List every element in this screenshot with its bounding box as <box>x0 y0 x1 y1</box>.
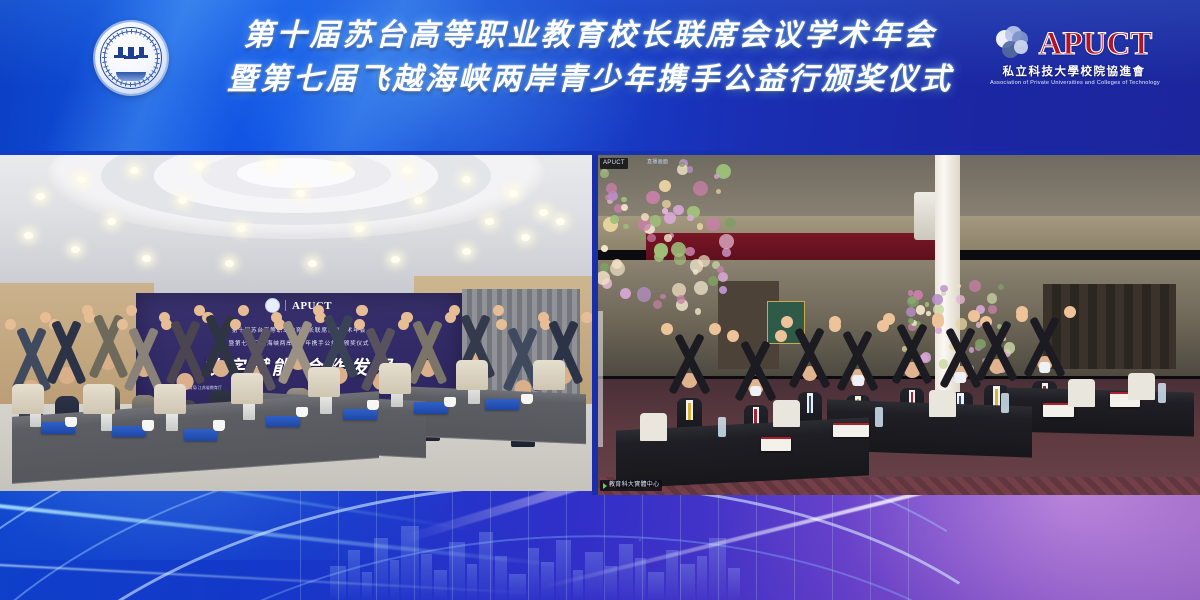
ceiling-light <box>77 176 86 183</box>
flower-blossom <box>718 272 728 282</box>
flower-blossom <box>916 305 926 315</box>
seal-book-shape <box>116 72 146 81</box>
apuct-chinese-name: 私立科技大學校院協進會 <box>990 63 1158 79</box>
ceiling-light <box>462 176 471 183</box>
flower-blossom <box>694 281 708 295</box>
raised-hand <box>5 319 16 330</box>
raised-hand <box>230 319 241 330</box>
raised-hand <box>126 305 137 316</box>
stream-badge-top: APUCT <box>600 158 628 169</box>
raised-hand <box>932 316 944 328</box>
flower-blossom <box>698 255 710 267</box>
flower-blossom <box>935 327 942 334</box>
flower-blossom <box>926 311 931 316</box>
flower-blossom <box>722 248 730 256</box>
flower-blossom <box>621 197 627 203</box>
ceiling-light <box>355 225 364 232</box>
flower-blossom <box>697 223 703 229</box>
ceiling-light <box>509 190 518 197</box>
flower-blossom <box>659 180 671 192</box>
event-banner: 第十届苏台高等职业教育校长联席会议学术年会 暨第七届飞越海峡两岸青少年携手公益行… <box>0 0 1200 155</box>
flower-blossom <box>998 284 1004 290</box>
chair <box>308 367 341 397</box>
seal-bar <box>139 47 144 58</box>
backdrop-apuct-wordmark: APUCT <box>292 300 332 312</box>
raised-hand <box>493 305 504 316</box>
raised-hand <box>496 319 507 330</box>
raised-hand <box>581 312 592 323</box>
desk-name-card <box>414 402 447 413</box>
water-bottle <box>718 417 726 437</box>
ceiling-light <box>391 256 400 263</box>
face-mask <box>750 386 762 397</box>
flower-blossom <box>714 174 719 179</box>
flower-blossom <box>623 224 628 229</box>
ceiling-light <box>462 248 471 255</box>
flower-blossom <box>956 295 965 304</box>
flower-blossom <box>621 204 628 211</box>
flower-blossom <box>987 293 998 304</box>
flower-blossom <box>641 213 649 221</box>
ceiling-light <box>237 225 246 232</box>
ceiling-light <box>71 246 80 253</box>
flower-blossom <box>932 294 943 305</box>
tea-cup <box>444 397 456 407</box>
ceiling-light <box>24 232 33 239</box>
water-bottle <box>1001 393 1009 413</box>
raised-hand <box>354 319 365 330</box>
apuct-logo: APUCT 私立科技大學校院協進會 Association of Private… <box>990 26 1158 86</box>
livestream-stage: 第十届苏台高等职业教育校长联席会议学术年会 暨第七届飞越海峡两岸青少年携手公益行… <box>0 0 1200 600</box>
ceiling-light <box>521 234 530 241</box>
chair <box>533 360 566 390</box>
banquet-chair <box>929 390 956 417</box>
video-panel-left[interactable]: APUCT 第十届苏台高等职业教育校长联席会议学术年会 暨第七届飞越海峡两岸青少… <box>0 155 592 491</box>
flower-blossom <box>685 247 695 257</box>
tea-cup <box>142 420 154 430</box>
tea-cup <box>296 407 308 417</box>
table-name-card <box>761 437 791 451</box>
tea-cup <box>213 420 225 430</box>
apuct-emblem-circle <box>1014 40 1028 54</box>
ceiling-light <box>178 197 187 204</box>
chair <box>456 360 489 390</box>
ceiling-light <box>107 218 116 225</box>
flower-blossom <box>679 162 684 167</box>
flower-blossom <box>640 235 646 241</box>
flower-blossom <box>940 285 948 293</box>
banner-headline: 第十届苏台高等职业教育校长联席会议学术年会 暨第七届飞越海峡两岸青少年携手公益行… <box>220 14 960 102</box>
chair <box>379 363 412 393</box>
flower-blossom <box>662 200 671 209</box>
flower-blossom <box>708 276 718 286</box>
raised-hand <box>159 312 170 323</box>
flower-blossom <box>725 218 736 229</box>
seal-bar <box>124 56 138 59</box>
ceiling-light <box>296 190 305 197</box>
flower-blossom <box>610 215 619 224</box>
flower-blossom <box>674 253 685 264</box>
ceiling-light <box>225 260 234 267</box>
raised-hand <box>356 305 367 316</box>
raised-hand <box>709 323 721 335</box>
table-name-card <box>833 423 869 437</box>
apuct-english-name: Association of Private Universities and … <box>990 80 1158 86</box>
flower-blossom <box>620 288 631 299</box>
tea-cup <box>367 400 379 410</box>
flower-blossom <box>660 294 666 300</box>
flower-blossom <box>600 169 609 178</box>
water-bottle <box>1158 383 1166 403</box>
banner-title-line-1: 第十届苏台高等职业教育校长联席会议学术年会 <box>220 14 960 58</box>
backdrop-divider <box>285 300 286 311</box>
chair <box>231 373 264 403</box>
flower-blossom <box>612 259 622 269</box>
ceiling-light <box>36 193 45 200</box>
flower-blossom <box>687 215 694 222</box>
banquet-chair <box>1068 379 1095 406</box>
flower-blossom <box>908 318 914 324</box>
flower-blossom <box>650 215 661 226</box>
tea-cup <box>521 394 533 404</box>
chair <box>83 384 116 414</box>
flower-blossom <box>988 305 997 314</box>
flower-blossom <box>716 189 721 194</box>
ceiling-light <box>556 218 565 225</box>
stream-caption-bottom: 教育科大實體中心 <box>600 480 662 491</box>
flower-blossom <box>1004 342 1016 354</box>
flower-blossom <box>719 286 727 294</box>
raised-hand <box>727 330 739 342</box>
flower-blossom <box>647 234 656 243</box>
guest-tie <box>688 403 690 421</box>
face-mask <box>852 375 864 386</box>
raised-hand <box>829 320 841 332</box>
flower-blossom <box>687 166 693 172</box>
seal-bar <box>118 47 123 58</box>
apuct-wordmark: APUCT <box>1039 28 1153 61</box>
face-mask <box>1039 362 1051 373</box>
flower-blossom <box>925 302 929 306</box>
ceiling-light <box>485 218 494 225</box>
face-mask <box>955 372 967 383</box>
flower-blossom <box>706 217 720 231</box>
backdrop-seal-icon <box>266 299 279 312</box>
raised-hand <box>538 312 549 323</box>
banquet-table-back <box>1007 387 1194 436</box>
desk-name-card <box>184 429 217 440</box>
hall-door-right <box>1043 284 1175 369</box>
flower-blossom <box>677 295 685 303</box>
flower-blossom <box>654 252 664 262</box>
flower-blossom <box>637 287 651 301</box>
ceiling-light <box>142 255 151 262</box>
raised-hand <box>661 323 673 335</box>
flower-blossom <box>717 266 724 273</box>
stream-badge-top-sub: 直播画面 <box>644 157 671 168</box>
flower-blossom <box>969 280 981 292</box>
ceiling-light <box>539 209 548 216</box>
flower-blossom <box>719 234 734 249</box>
flower-blossom <box>956 284 961 289</box>
chair <box>12 384 45 414</box>
desk-name-card <box>266 416 299 427</box>
ceiling-light <box>308 260 317 267</box>
desk-name-card <box>343 409 376 420</box>
flower-blossom <box>906 307 916 317</box>
banquet-chair <box>640 413 667 440</box>
apuct-logo-row: APUCT <box>990 26 1158 62</box>
flower-blossom <box>695 308 701 314</box>
flower-blossom <box>646 191 660 205</box>
chair <box>154 384 187 414</box>
raised-hand <box>968 310 980 322</box>
flower-blossom <box>956 318 968 330</box>
backdrop-logos: APUCT <box>136 299 462 312</box>
play-arrow-icon <box>603 483 607 489</box>
seal-monogram <box>114 47 148 69</box>
university-seal-icon <box>95 22 167 94</box>
stream-caption-text: 教育科大實體中心 <box>609 481 659 490</box>
water-bottle <box>875 407 883 427</box>
banquet-chair <box>773 400 800 427</box>
apuct-emblem-icon <box>996 26 1036 62</box>
flower-blossom <box>975 339 986 350</box>
flower-arrangement-left <box>598 158 736 321</box>
guest-tie <box>995 389 997 407</box>
banner-title-line-2: 暨第七届飞越海峡两岸青少年携手公益行颁奖仪式 <box>220 58 960 102</box>
flower-blossom <box>969 347 974 352</box>
desk-name-card <box>112 426 145 437</box>
banquet-chair <box>1128 373 1155 400</box>
left-edge-strip <box>598 311 603 447</box>
flower-blossom <box>664 212 676 224</box>
tea-cup <box>65 417 77 427</box>
video-panel-right[interactable]: APUCT 直播画面 教育科大實體中心 <box>598 155 1200 495</box>
raised-hand <box>1016 306 1028 318</box>
seal-bar <box>128 47 134 56</box>
raised-hand <box>401 312 412 323</box>
flower-blossom <box>664 234 672 242</box>
desk-name-card <box>485 399 518 410</box>
guest-tie <box>809 396 811 414</box>
flower-blossom <box>653 300 662 309</box>
ceiling-light <box>403 167 412 174</box>
raised-hand <box>313 305 324 316</box>
flower-blossom <box>601 245 608 252</box>
flower-blossom <box>913 290 923 300</box>
raised-hand <box>775 330 787 342</box>
flower-blossom <box>693 181 708 196</box>
